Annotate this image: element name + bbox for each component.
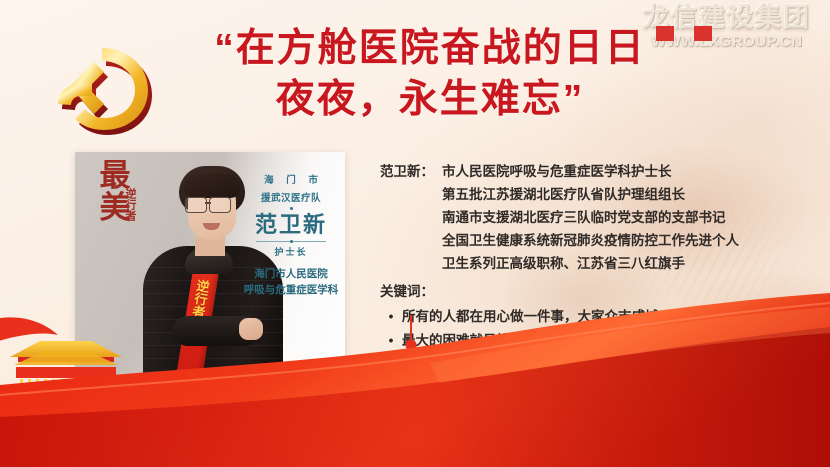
profile-line: 市人民医院呼吸与危重症医学科护士长 [442,160,820,183]
cpc-hammer-sickle-icon [42,36,160,140]
card-city: 海 门 市 [243,172,339,186]
glasses-right-lens [209,197,231,213]
profile-row: 第五批江苏援湖北医疗队省队护理组组长 [380,183,820,206]
page-title: “在方舱医院奋战的日日 夜夜，永生难忘” [180,24,680,124]
profile-label-spacer [380,206,442,229]
calligraphy-nixingzhe: 逆行者 [121,188,135,221]
glasses-bridge [205,202,211,204]
slide-canvas: 龙信建设集团 WWW.LXGROUP.CN “在方舱医院奋战的日日 夜夜，永生难… [0,0,830,467]
profile-row: 范卫新： 市人民医院呼吸与危重症医学科护士长 [380,160,820,183]
profile-row: 全国卫生健康系统新冠肺炎疫情防控工作先进个人 [380,229,820,252]
profile-label-spacer [380,183,442,206]
profile-row: 南通市支援湖北医疗三队临时党支部的支部书记 [380,206,820,229]
calligraphy-zuimei: 最美 [85,160,145,223]
title-line-2: 夜夜，永生难忘” [180,75,680,124]
card-person-name: 范卫新 [243,213,339,237]
profile-label-spacer [380,229,442,252]
profile-line: 南通市支援湖北医疗三队临时党支部的支部书记 [442,206,820,229]
glasses-left-lens [185,197,207,213]
portrait-head [179,166,245,246]
profile-line: 第五批江苏援湖北医疗队省队护理组组长 [442,183,820,206]
title-line-1: “在方舱医院奋战的日日 [180,24,680,73]
card-team: 援武汉医疗队 [243,190,339,204]
card-job-title: 护士长 [243,245,339,258]
watermark-square-2 [694,26,712,41]
red-ribbon-graphic [0,267,830,467]
profile-label: 范卫新： [380,160,442,183]
portrait-fringe [184,174,240,198]
profile-line: 全国卫生健康系统新冠肺炎疫情防控工作先进个人 [442,229,820,252]
card-dot-top [290,207,293,210]
card-divider [256,241,326,242]
